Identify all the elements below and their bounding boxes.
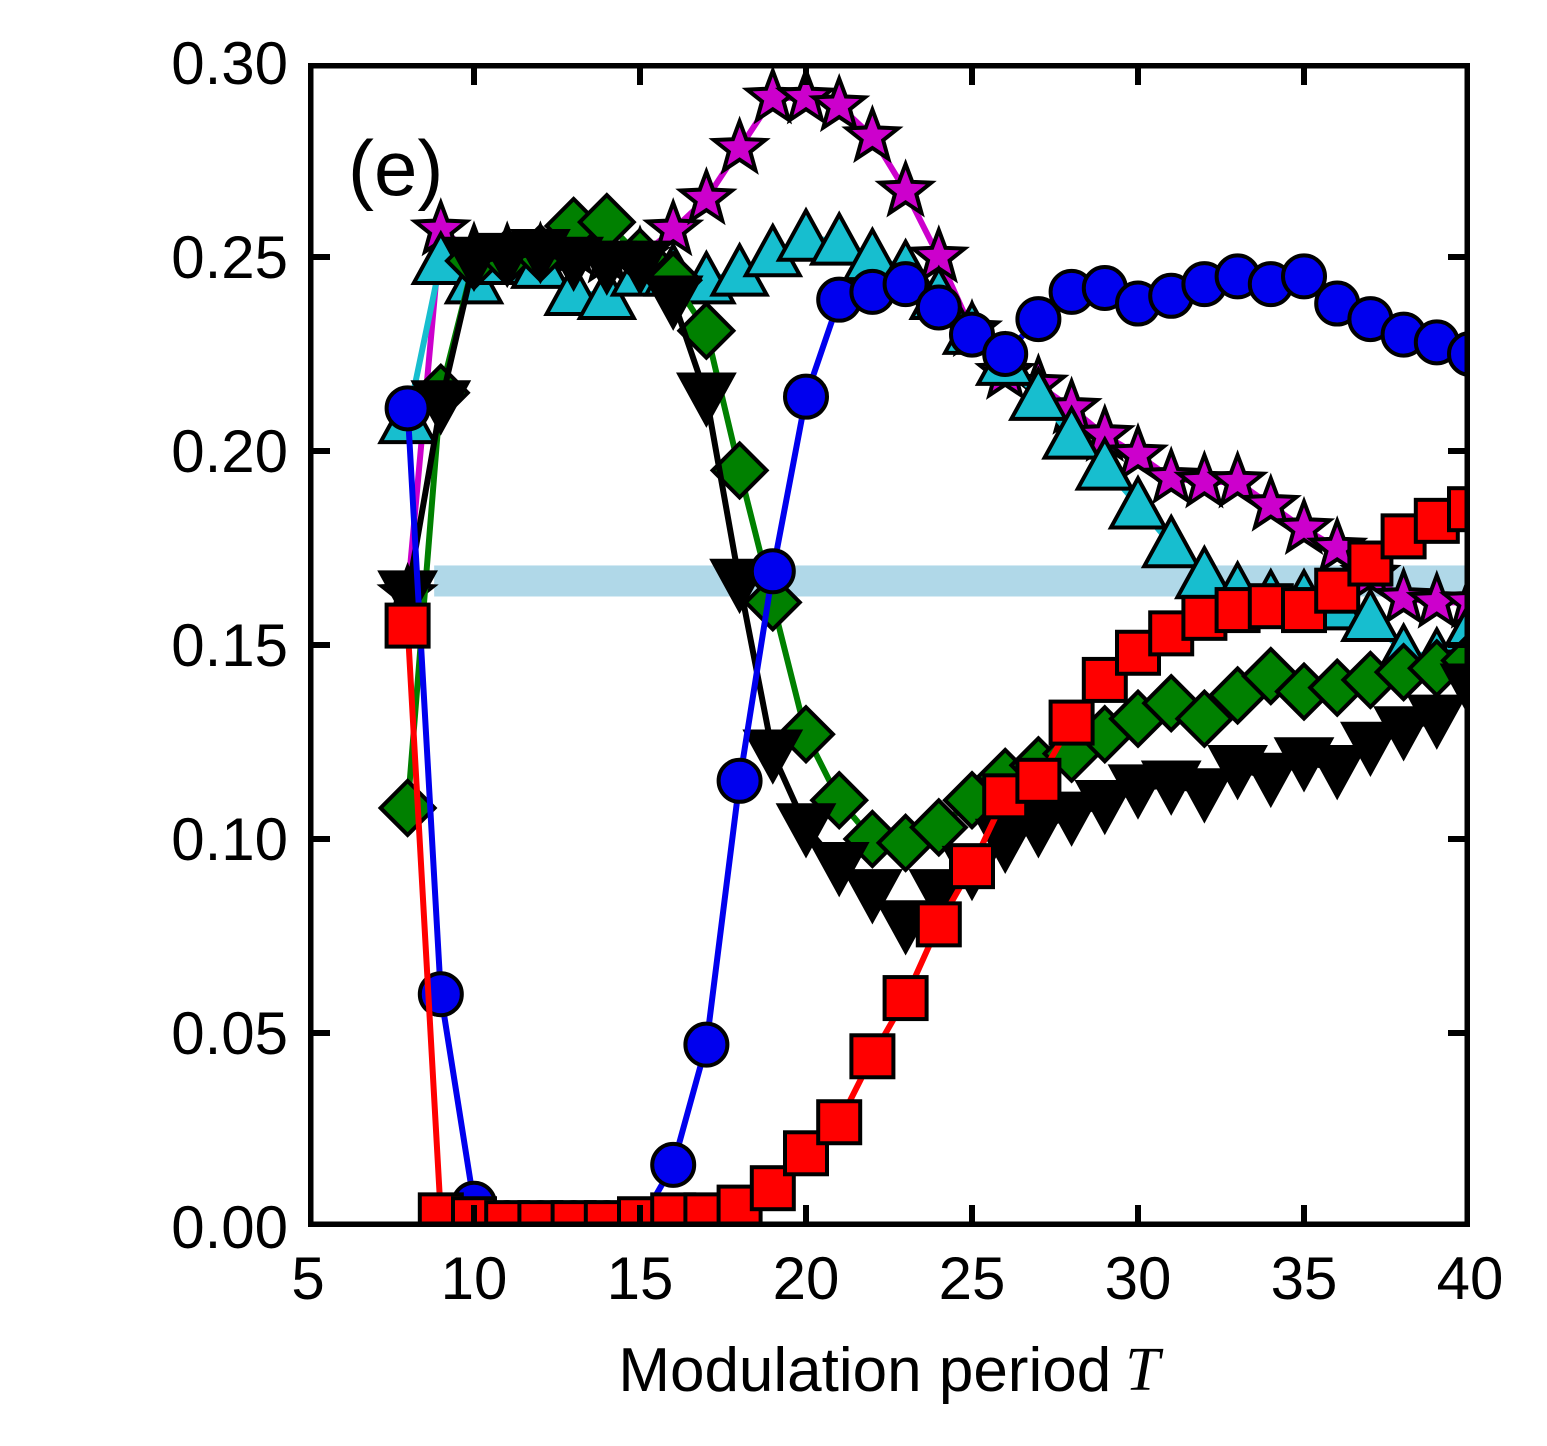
y-tick-label: 0.10 xyxy=(118,805,288,874)
data-point-star xyxy=(714,121,765,170)
figure-panel-e: OP probabilites 0.300.250.200.150.100.05… xyxy=(0,0,1547,1446)
series-magenta-star xyxy=(382,71,1470,624)
data-point-star xyxy=(880,164,931,213)
x-tick-label: 35 xyxy=(1234,1244,1374,1313)
data-point-circle xyxy=(685,1024,727,1066)
x-tick-label: 15 xyxy=(570,1244,710,1313)
data-point-circle xyxy=(752,550,794,592)
data-point-circle xyxy=(719,760,761,802)
x-tick-label: 40 xyxy=(1400,1244,1540,1313)
data-point-square xyxy=(387,605,429,647)
plot-svg xyxy=(308,63,1470,1227)
x-tick-label: 30 xyxy=(1068,1244,1208,1313)
x-tick-label: 25 xyxy=(902,1244,1042,1313)
series-red-square xyxy=(387,488,1470,1227)
x-axis-label: Modulation period T xyxy=(308,1330,1470,1410)
x-axis-label-symbol: T xyxy=(1125,1335,1159,1406)
y-tick-label: 0.30 xyxy=(118,29,288,98)
y-tick-label: 0.05 xyxy=(118,999,288,1068)
x-axis-tick-labels: 510152025303540 xyxy=(0,1244,1547,1324)
x-axis-label-text: Modulation period xyxy=(618,1335,1111,1406)
data-point-circle xyxy=(652,1144,694,1186)
data-point-triangle-down xyxy=(1310,747,1364,796)
data-point-square xyxy=(918,903,960,945)
data-point-circle xyxy=(387,387,429,429)
y-tick-label: 0.20 xyxy=(118,417,288,486)
data-point-square xyxy=(818,1101,860,1143)
x-tick-label: 10 xyxy=(404,1244,544,1313)
data-point-square xyxy=(851,1035,893,1077)
data-point-triangle-down xyxy=(1177,770,1231,819)
data-point-square xyxy=(951,845,993,887)
data-point-square xyxy=(1051,702,1093,744)
data-point-circle xyxy=(785,376,827,418)
y-tick-label: 0.25 xyxy=(118,223,288,292)
panel-label: (e) xyxy=(348,123,443,214)
data-point-square xyxy=(885,977,927,1019)
plot-area: (e) xyxy=(308,63,1470,1227)
data-point-circle xyxy=(984,333,1026,375)
x-tick-label: 20 xyxy=(736,1244,876,1313)
y-tick-label: 0.15 xyxy=(118,611,288,680)
data-point-square xyxy=(1017,760,1059,802)
y-axis-tick-labels: 0.300.250.200.150.100.050.00 xyxy=(118,0,288,1446)
x-tick-label: 5 xyxy=(238,1244,378,1313)
